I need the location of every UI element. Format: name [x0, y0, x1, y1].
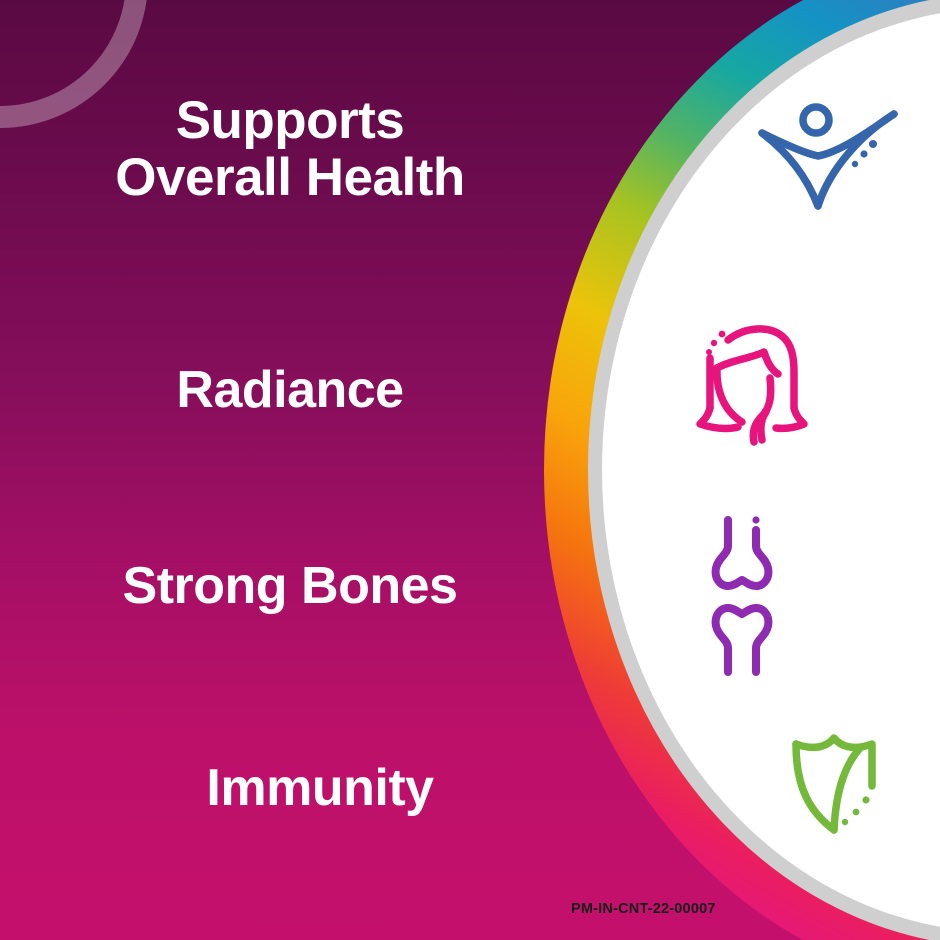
benefit-label-overall-health: Supports Overall Health [0, 92, 580, 206]
benefit-label-radiance: Radiance [0, 362, 580, 418]
knee-joint-bone-icon [706, 516, 786, 676]
reference-code: PM-IN-CNT-22-00007 [571, 901, 716, 917]
shield-icon [788, 730, 892, 840]
benefit-label-immunity: Immunity [30, 760, 610, 816]
benefit-label-strong-bones: Strong Bones [0, 558, 580, 614]
benefit-headings: Supports Overall Health Radiance Strong … [0, 0, 580, 940]
promo-panel: Supports Overall Health Radiance Strong … [0, 0, 940, 940]
woman-face-hair-icon [686, 312, 826, 458]
person-raised-arms-check-icon [756, 96, 902, 224]
